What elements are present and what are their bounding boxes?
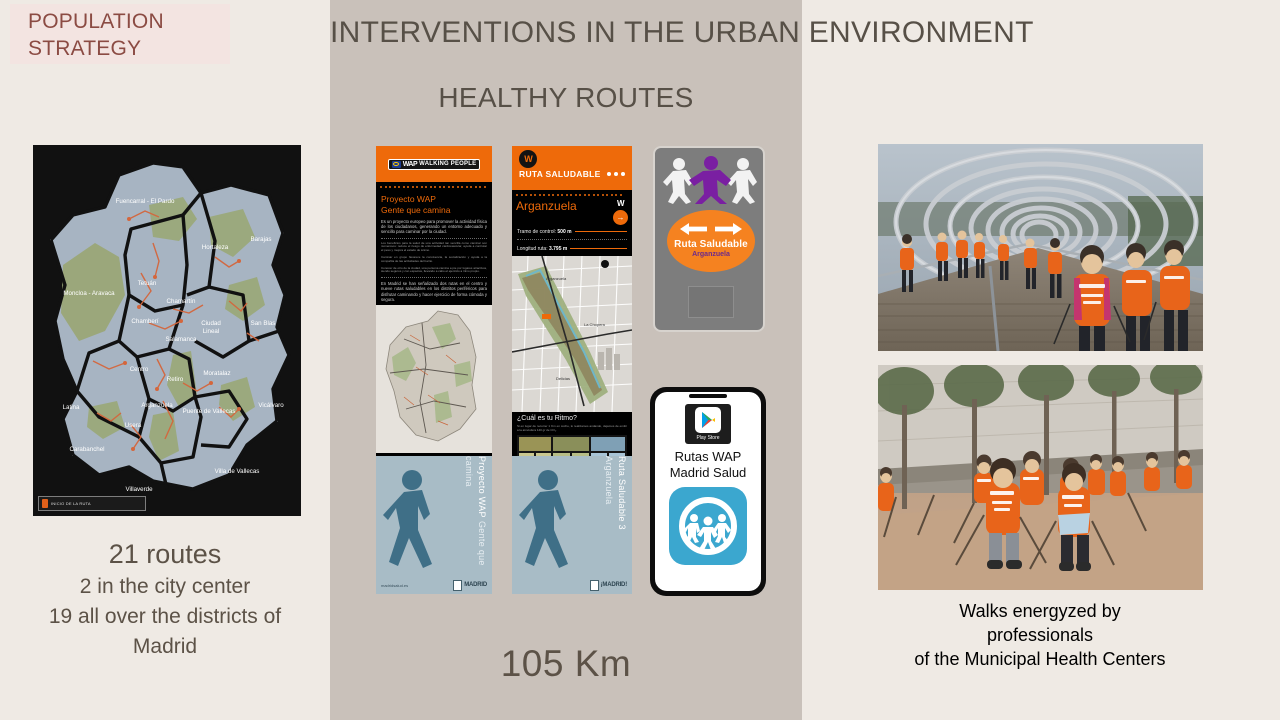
svg-text:Salamanca: Salamanca	[166, 336, 198, 343]
svg-text:Villaverde: Villaverde	[125, 486, 153, 493]
ruta-route-name: Arganzuela	[516, 199, 577, 213]
wap-para-4: En Madrid se han señalizado dos rutas en…	[381, 281, 487, 302]
caption-line-2: professionals	[860, 623, 1220, 647]
photo-walkers-arganzuela-bridge	[878, 144, 1203, 351]
wap-poster-header: WAP WALKING PEOPLE	[376, 146, 492, 182]
ruta-rhythm-text: Si en lugar de recorrer 1 Km en coche, l…	[517, 425, 627, 433]
svg-text:La Chopera: La Chopera	[584, 322, 606, 327]
page-title: INTERVENTIONS IN THE URBAN ENVIRONMENT	[330, 16, 1030, 50]
ruta-length-line: Longitud ruta: 3.795 m	[517, 246, 567, 252]
svg-text:Moncloa - Aravaca: Moncloa - Aravaca	[63, 290, 115, 297]
svg-text:Delicias: Delicias	[556, 376, 570, 381]
photo-2-graphic	[878, 365, 1203, 590]
sign-blank-panel	[688, 286, 734, 318]
ruta-header-title: RUTA SALUDABLE	[519, 169, 601, 179]
phone-screen: Play Store Rutas WAP Madrid Salud	[655, 392, 761, 591]
walking-people-label: WALKING PEOPLE	[419, 161, 476, 167]
svg-text:Fuencarral - El Pardo: Fuencarral - El Pardo	[116, 198, 175, 205]
wap-logo-icon	[679, 497, 737, 555]
sign-oval: Ruta Saludable Arganzuela	[667, 210, 755, 272]
svg-text:Latina: Latina	[63, 404, 80, 411]
total-km: 105 Km	[330, 643, 802, 685]
arrow-right-icon	[714, 222, 744, 236]
svg-text:Hortaleza: Hortaleza	[202, 244, 229, 251]
sign-oval-sublabel: Arganzuela	[692, 251, 730, 258]
route-start-icon	[42, 499, 48, 508]
svg-text:Puente de Vallecas: Puente de Vallecas	[183, 408, 236, 415]
street-sign: Ruta Saludable Arganzuela	[653, 146, 765, 332]
madrid-shield-icon	[453, 580, 462, 591]
routes-city: Madrid	[0, 632, 330, 662]
svg-text:Chamartín: Chamartín	[167, 298, 196, 305]
arrow-left-icon	[678, 222, 708, 236]
svg-text:Villa de Vallecas: Villa de Vallecas	[215, 468, 260, 475]
map-legend-label: INICIO DE LA RUTA	[51, 501, 91, 506]
eu-flag-icon	[392, 161, 401, 168]
population-strategy-kicker: POPULATION STRATEGY	[10, 4, 230, 64]
ruta-footer-bar: ¡MADRID!	[512, 576, 632, 594]
photo-1-graphic	[878, 144, 1203, 351]
svg-text:Centro: Centro	[130, 366, 149, 373]
wap-heading-1: Proyecto WAP	[381, 194, 487, 205]
poster-proyecto-wap: WAP WALKING PEOPLE Proyecto WAP Gente qu…	[376, 146, 492, 594]
app-title: Rutas WAP Madrid Salud	[670, 449, 747, 481]
direction-badge-icon: →	[613, 210, 628, 225]
wap-app-icon[interactable]	[669, 487, 747, 565]
kicker-line-1: POPULATION	[28, 8, 230, 35]
dot-rule-2	[512, 190, 632, 199]
ruta-footer-vertical: Ruta Saludable 3 Arganzuela	[602, 456, 628, 568]
routes-center: 2 in the city center	[0, 572, 330, 602]
pedestrian-icon	[382, 468, 444, 572]
madrid-districts-map: Fuencarral - El Pardo Hortaleza Barajas …	[33, 145, 301, 516]
wap-para-2: Caminar en grupo favorece la convivencia…	[381, 256, 487, 264]
madrid-logo: MADRID	[453, 580, 487, 591]
wap-para-1: Los beneficios para la salud de una acti…	[381, 242, 487, 253]
sign-arrows	[678, 222, 744, 236]
madrid-logo-2: ¡MADRID!	[590, 580, 627, 591]
map-legend: INICIO DE LA RUTA	[38, 496, 146, 511]
svg-text:Retiro: Retiro	[167, 376, 184, 383]
wap-intro: Es un proyecto europeo para promover la …	[381, 219, 487, 235]
wap-poster-body: Proyecto WAP Gente que camina Es un proy…	[376, 191, 492, 305]
wap-para-3: Conocer de otro de la ciudad, una person…	[381, 267, 487, 275]
walking-people-logo: WAP WALKING PEOPLE	[388, 159, 481, 170]
madrid-wordmark-2: ¡MADRID!	[601, 582, 627, 588]
play-store-tile[interactable]: Play Store	[685, 404, 731, 444]
ruta-street-map: Arganzuela La Chopera Delicias	[512, 256, 632, 412]
play-store-label: Play Store	[696, 435, 719, 441]
caption-line-3: of the Municipal Health Centers	[860, 647, 1220, 671]
svg-text:Vicálvaro: Vicálvaro	[258, 402, 284, 409]
map-graphic: Fuencarral - El Pardo Hortaleza Barajas …	[33, 145, 301, 516]
svg-text:San Blas: San Blas	[251, 320, 276, 327]
sign-oval-label: Ruta Saludable	[674, 239, 748, 250]
svg-text:Carabanchel: Carabanchel	[69, 446, 104, 453]
page-subtitle: HEALTHY ROUTES	[330, 82, 802, 114]
svg-text:Lineal: Lineal	[203, 328, 220, 335]
wap-footer-bar: madridsalud.es MADRID	[376, 576, 492, 594]
wap-heading-2: Gente que camina	[381, 205, 487, 216]
poster-ruta-saludable: W RUTA SALUDABLE Arganzuela W → Tramo de…	[512, 146, 632, 594]
wap-circle-logo-icon: W	[519, 150, 537, 168]
svg-text:Moratalaz: Moratalaz	[203, 370, 230, 377]
slide-root: POPULATION STRATEGY INTERVENTIONS IN THE…	[0, 0, 1280, 720]
photo-nordic-walking-group	[878, 365, 1203, 590]
wap-poster-map	[376, 305, 492, 453]
photos-caption: Walks energyzed by professionals of the …	[860, 599, 1220, 671]
ruta-stats: Tramo de control: 500 m Longitud ruta: 3…	[512, 225, 632, 256]
dot-rule	[376, 182, 492, 191]
svg-text:Arganzuela: Arganzuela	[546, 276, 567, 281]
wap-footer-vertical: Proyecto WAP Gente que camina	[462, 456, 488, 568]
header-dots-icon	[607, 172, 625, 176]
madrid-wordmark: MADRID	[464, 582, 487, 588]
ruta-title-row: Arganzuela W →	[512, 199, 632, 225]
svg-text:Barajas: Barajas	[251, 236, 272, 243]
play-store-icon	[695, 407, 721, 433]
svg-text:Chamberí: Chamberí	[131, 318, 158, 325]
ruta-rhythm-question: ¿Cuál es tu Ritmo?	[517, 415, 627, 422]
svg-text:Tetuán: Tetuán	[138, 280, 157, 287]
routes-count: 21 routes	[0, 536, 330, 572]
svg-text:Arganzuela: Arganzuela	[141, 402, 173, 409]
kicker-line-2: STRATEGY	[28, 35, 230, 62]
routes-caption: 21 routes 2 in the city center 19 all ov…	[0, 536, 330, 662]
wap-mark-icon: WAP	[403, 161, 417, 168]
svg-text:Usera: Usera	[125, 422, 142, 429]
caption-line-1: Walks energyzed by	[860, 599, 1220, 623]
ruta-poster-header: W RUTA SALUDABLE	[512, 146, 632, 190]
wap-poster-footer: Proyecto WAP Gente que camina madridsalu…	[376, 456, 492, 594]
ruta-control-line: Tramo de control: 500 m	[517, 229, 572, 235]
ruta-poster-footer: Ruta Saludable 3 Arganzuela ¡MADRID!	[512, 456, 632, 594]
pedestrian-icon-2	[518, 468, 580, 572]
madrid-shield-icon-2	[590, 580, 599, 591]
walking-people-figures-icon	[663, 156, 759, 204]
phone-notch	[689, 394, 727, 398]
svg-text:Ciudad: Ciudad	[201, 320, 221, 327]
phone-mockup: Play Store Rutas WAP Madrid Salud	[650, 387, 766, 596]
routes-districts: 19 all over the districts of	[0, 602, 330, 632]
wap-footer-url: madridsalud.es	[381, 583, 408, 588]
wap-small-mark-icon: W	[617, 199, 624, 208]
